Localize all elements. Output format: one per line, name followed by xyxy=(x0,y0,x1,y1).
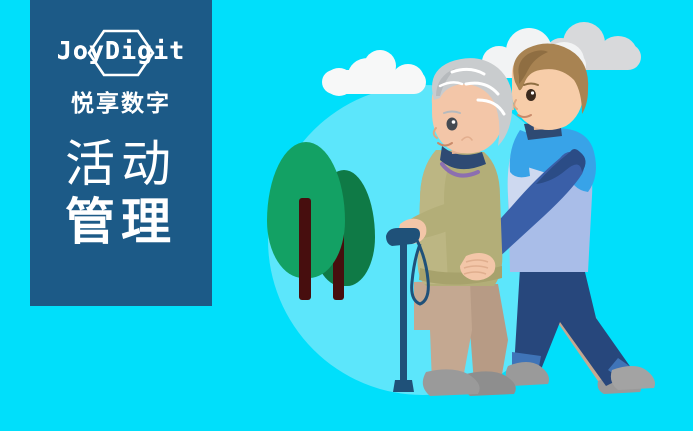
man-brow xyxy=(524,84,538,86)
poster-canvas: JoyDigit 悦享数字 活动 管理 xyxy=(0,0,693,431)
logo-chinese-name: 悦享数字 xyxy=(30,84,212,118)
man-ear xyxy=(506,96,514,110)
page-title: 活动 管理 xyxy=(30,135,212,251)
cloud-right-front-icon xyxy=(482,28,586,78)
page-title-line-1: 活动 xyxy=(30,135,212,193)
logo-wordmark: JoyDigit xyxy=(30,36,212,65)
man-far-shoe-2 xyxy=(611,366,655,390)
man-eye-glint xyxy=(531,91,534,94)
man-jean-cuff-right xyxy=(608,358,638,384)
man-neck xyxy=(532,106,560,130)
page-title-line-2: 管理 xyxy=(30,193,212,251)
woman-hair-wave-1 xyxy=(452,69,484,74)
man-mouth xyxy=(518,115,531,117)
logo-mark: JoyDigit xyxy=(30,28,212,78)
man-nose xyxy=(514,100,517,109)
logo-block: JoyDigit 悦享数字 xyxy=(30,28,212,118)
man-eye xyxy=(526,89,536,101)
cloud-left-icon xyxy=(322,50,426,92)
brand-panel: JoyDigit 悦享数字 活动 管理 xyxy=(30,0,212,306)
man-far-shoe xyxy=(598,376,641,394)
tree-front-trunk xyxy=(299,198,311,300)
